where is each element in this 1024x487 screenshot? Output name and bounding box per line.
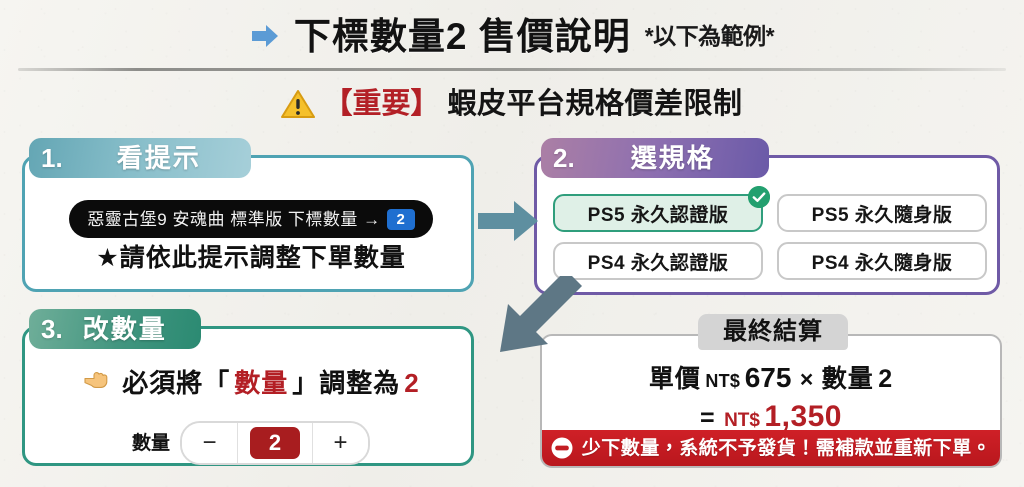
final-total-line: = NT$ 1,350 bbox=[542, 402, 1000, 432]
step-3-instruction-highlight: 數量 bbox=[234, 370, 288, 396]
page-title-row: 下標數量2 售價說明 *以下為範例* bbox=[0, 8, 1024, 64]
quantity-label: 數量 bbox=[132, 434, 170, 453]
quantity-value[interactable]: 2 bbox=[250, 427, 300, 459]
header-divider bbox=[18, 68, 1006, 71]
final-summary-tab: 最終結算 bbox=[698, 314, 848, 350]
final-calculation-line: 單價 NT$ 675 × 數量 2 bbox=[542, 364, 1000, 392]
warning-triangle-icon bbox=[281, 89, 315, 119]
step-2-label: 選規格 bbox=[587, 145, 715, 171]
variant-option-ps4-portable[interactable]: PS4 永久隨身版 bbox=[777, 242, 987, 280]
pointing-hand-icon bbox=[82, 369, 112, 396]
variant-option-label: PS4 永久隨身版 bbox=[812, 248, 953, 275]
connector-arrow-step2-step3 bbox=[480, 276, 592, 352]
total-amount: 1,350 bbox=[764, 400, 842, 433]
variant-option-ps5-certified[interactable]: PS5 永久認證版 bbox=[553, 194, 763, 232]
quantity-stepper-row: 數量 − 2 + bbox=[25, 421, 477, 465]
step-card-1: 1. 看提示 惡靈古堡9 安魂曲 標準版 下標數量 → 2 ★請依此提示調整下單… bbox=[22, 155, 474, 292]
unit-price-label: 單價 bbox=[649, 365, 701, 393]
listing-hint-text: 惡靈古堡9 安魂曲 標準版 下標數量 → bbox=[87, 211, 380, 228]
listing-hint-qty-badge: 2 bbox=[387, 209, 415, 230]
step-2-number: 2. bbox=[553, 145, 575, 171]
quantity-amount: 2 bbox=[878, 365, 893, 393]
total-currency-label: NT$ bbox=[724, 410, 760, 431]
step-1-label: 看提示 bbox=[75, 145, 201, 171]
infographic-canvas: 下標數量2 售價說明 *以下為範例* 【重要】 蝦皮平台規格價差限制 1. 看提… bbox=[0, 0, 1024, 487]
subtitle-important-tag: 【重要】 bbox=[323, 90, 439, 119]
unit-price-value: 675 bbox=[745, 362, 792, 393]
quantity-value-wrap: 2 bbox=[238, 423, 312, 463]
variant-option-ps5-portable[interactable]: PS5 永久隨身版 bbox=[777, 194, 987, 232]
quantity-increase-button[interactable]: + bbox=[312, 423, 368, 463]
quantity-stepper[interactable]: − 2 + bbox=[180, 421, 370, 465]
variant-option-label: PS4 永久認證版 bbox=[588, 248, 729, 275]
quantity-decrease-button[interactable]: − bbox=[182, 423, 238, 463]
variant-option-ps4-certified[interactable]: PS4 永久認證版 bbox=[553, 242, 763, 280]
equals-symbol: = bbox=[700, 404, 720, 432]
step-3-instruction-value: 2 bbox=[404, 370, 419, 396]
step-1-note: ★請依此提示調整下單數量 bbox=[25, 246, 477, 271]
step-3-header: 3. 改數量 bbox=[29, 309, 201, 349]
arrow-right-icon bbox=[250, 23, 280, 49]
step-1-number: 1. bbox=[41, 145, 63, 171]
check-circle-icon bbox=[748, 186, 770, 208]
variant-option-label: PS5 永久認證版 bbox=[588, 200, 729, 227]
subtitle-row: 【重要】 蝦皮平台規格價差限制 bbox=[0, 82, 1024, 126]
multiply-symbol: × bbox=[796, 366, 817, 392]
step-3-instruction: 必須將「 數量 」調整為 2 bbox=[25, 369, 477, 396]
quantity-word: 數量 bbox=[822, 365, 874, 393]
connector-arrow-step1-step2 bbox=[476, 198, 540, 244]
currency-label: NT$ bbox=[705, 371, 740, 391]
step-1-header: 1. 看提示 bbox=[29, 138, 251, 178]
final-warning-bar: 少下數量，系統不予發貨！需補款並重新下單。 bbox=[542, 430, 1000, 466]
variant-option-label: PS5 永久隨身版 bbox=[812, 200, 953, 227]
step-3-number: 3. bbox=[41, 316, 63, 342]
step-3-instruction-part2: 」調整為 bbox=[292, 370, 400, 396]
final-summary-box: 單價 NT$ 675 × 數量 2 = NT$ 1,350 少下數量，系統不予發… bbox=[540, 334, 1002, 468]
final-summary-title: 最終結算 bbox=[723, 320, 823, 344]
step-2-header: 2. 選規格 bbox=[541, 138, 769, 178]
listing-hint-pill: 惡靈古堡9 安魂曲 標準版 下標數量 → 2 bbox=[69, 200, 433, 238]
no-entry-icon bbox=[551, 437, 573, 459]
step-3-label: 改數量 bbox=[75, 316, 167, 342]
page-title-note: *以下為範例* bbox=[645, 25, 774, 48]
step-3-instruction-part1: 必須將「 bbox=[122, 370, 230, 396]
step-card-2: 2. 選規格 PS5 永久認證版 PS5 永久隨身版 PS4 永久認證版 bbox=[534, 155, 1000, 295]
final-warning-text: 少下數量，系統不予發貨！需補款並重新下單。 bbox=[582, 439, 992, 458]
page-title: 下標數量2 售價說明 bbox=[294, 18, 631, 55]
variant-option-group: PS5 永久認證版 PS5 永久隨身版 PS4 永久認證版 PS4 永久隨身版 bbox=[553, 194, 987, 280]
subtitle-text: 蝦皮平台規格價差限制 bbox=[448, 90, 743, 119]
step-card-3: 3. 改數量 必須將「 數量 」調整為 2 數量 − 2 + bbox=[22, 326, 474, 466]
